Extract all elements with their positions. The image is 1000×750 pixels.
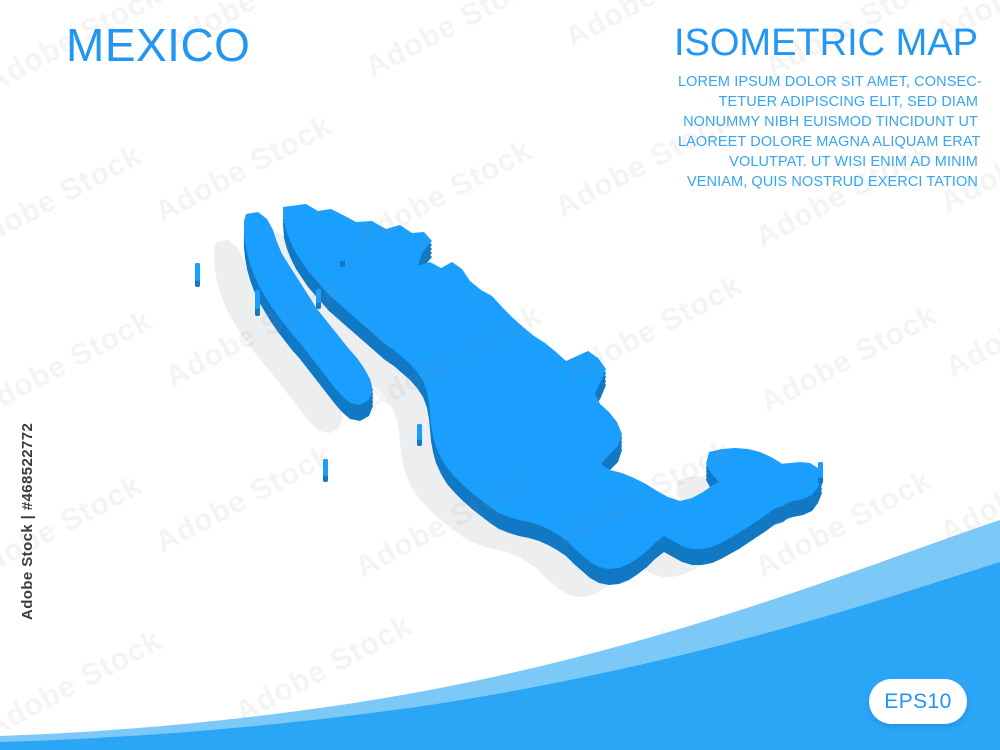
description-line: VOLUTPAT. UT WISI ENIM AD MINIM bbox=[678, 152, 978, 172]
island-marker bbox=[340, 247, 345, 261]
description-line: NONUMMY NIBH EUISMOD TINCIDUNT UT bbox=[678, 112, 978, 132]
description-line: VENIAM, QUIS NOSTRUD EXERCI TATION bbox=[678, 172, 978, 192]
island-marker bbox=[417, 424, 422, 440]
island-marker bbox=[255, 290, 260, 309]
description-line: LAOREET DOLORE MAGNA ALIQUAM ERAT bbox=[678, 132, 978, 152]
island-marker bbox=[195, 263, 200, 281]
description-line: TETUER ADIPISCING ELIT, SED DIAM bbox=[678, 92, 978, 112]
headline-isometric-map: ISOMETRIC MAP bbox=[674, 24, 978, 62]
island-marker bbox=[316, 289, 321, 303]
description-paragraph: LOREM IPSUM DOLOR SIT AMET, CONSEC- TETU… bbox=[678, 72, 978, 192]
poster-canvas: Adobe Stock Adobe Stock Adobe Stock Adob… bbox=[0, 0, 1000, 750]
description-line: LOREM IPSUM DOLOR SIT AMET, CONSEC- bbox=[678, 72, 978, 92]
page-title: MEXICO bbox=[66, 22, 250, 68]
eps-version-badge: EPS10 bbox=[869, 679, 967, 724]
island-marker bbox=[818, 462, 823, 478]
island-marker bbox=[323, 459, 328, 476]
